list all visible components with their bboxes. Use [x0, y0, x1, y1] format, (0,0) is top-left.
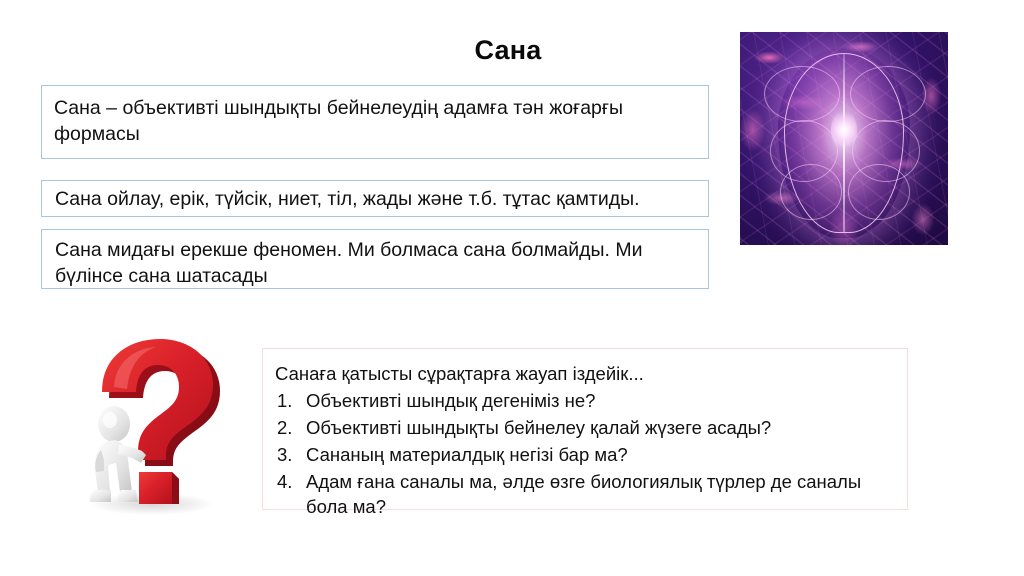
brain-statement-text: Сана мидағы ерекше феномен. Ми болмаса с… [55, 239, 642, 287]
brain-lobe-shape [850, 66, 926, 122]
list-item-number: 4. [277, 469, 301, 495]
list-item-text: Адам ғана саналы ма, әлде өзге биологиял… [306, 471, 861, 518]
list-item: 4. Адам ғана саналы ма, әлде өзге биолог… [275, 469, 897, 521]
brain-lobe-shape [764, 66, 840, 122]
list-item-text: Объективті шындық дегеніміз не? [306, 390, 595, 411]
list-item: 2. Объективті шындықты бейнелеу қалай жү… [275, 415, 897, 441]
list-item-number: 2. [277, 415, 301, 441]
brain-core-glow [831, 110, 857, 150]
questions-panel: Санаға қатысты сұрақтарға жауап іздейік.… [262, 348, 908, 510]
list-item: 1. Объективті шындық дегеніміз не? [275, 388, 897, 414]
definition-text: Сана – объективті шындықты бейнелеудің а… [54, 97, 623, 145]
brain-neural-network-image [740, 32, 948, 245]
brain-lobe-shape [848, 164, 910, 220]
brain-lobe-shape [780, 164, 842, 220]
slide-canvas: Сана Сана – объективті шындықты бейнелеу… [0, 0, 1024, 576]
questions-list: 1. Объективті шындық дегеніміз не? 2. Об… [273, 388, 897, 520]
scope-text: Сана ойлау, ерік, түйсік, ниет, тіл, жад… [55, 188, 640, 210]
definition-text-box: Сана – объективті шындықты бейнелеудің а… [41, 85, 709, 159]
brain-statement-text-box: Сана мидағы ерекше феномен. Ми болмаса с… [41, 229, 709, 289]
list-item-number: 3. [277, 442, 301, 468]
questions-lead-text: Санаға қатысты сұрақтарға жауап іздейік.… [275, 361, 897, 387]
scope-text-box: Сана ойлау, ерік, түйсік, ниет, тіл, жад… [41, 180, 709, 217]
question-mark-illustration [58, 332, 243, 518]
list-item-text: Сананың материалдық негізі бар ма? [306, 444, 628, 465]
list-item-number: 1. [277, 388, 301, 414]
list-item-text: Объективті шындықты бейнелеу қалай жүзег… [306, 417, 771, 438]
list-item: 3. Сананың материалдық негізі бар ма? [275, 442, 897, 468]
